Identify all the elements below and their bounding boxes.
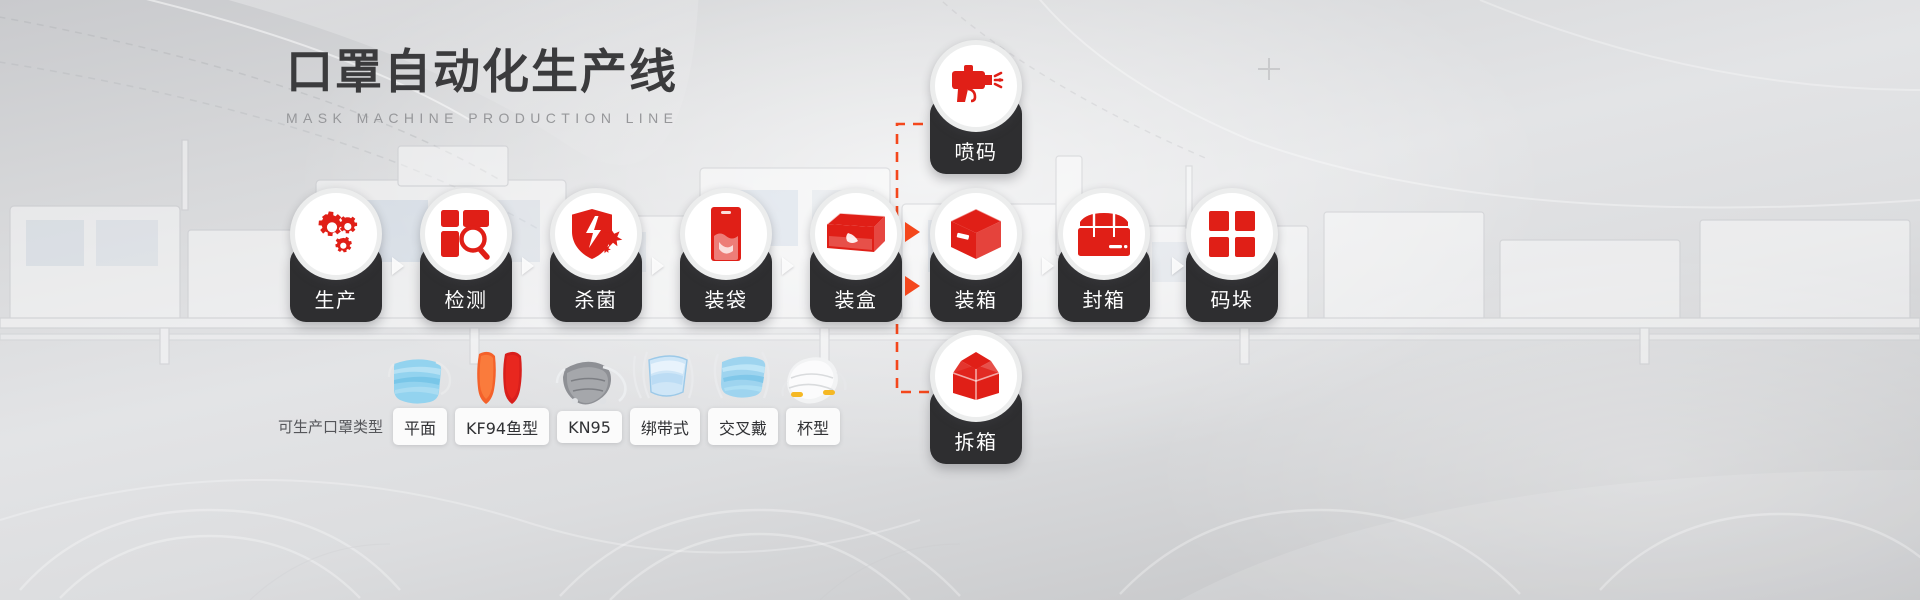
node-label: 检测	[445, 284, 488, 313]
mask-type-tag-kn95[interactable]: KN95	[557, 411, 622, 443]
mask-type-label: 平面	[404, 419, 436, 438]
accent-arrow-top	[905, 222, 920, 242]
flow-node-sealing[interactable]: 封箱	[1058, 188, 1150, 322]
mask-type-label: 绑带式	[641, 419, 689, 438]
mask-type-tag-kf94[interactable]: KF94鱼型	[455, 408, 549, 445]
mask-type-label: KF94鱼型	[466, 419, 538, 438]
mask-type-label: KN95	[568, 418, 611, 437]
mask-type-tag-cup[interactable]: 杯型	[786, 408, 840, 445]
flow-node-production[interactable]: 生产	[290, 188, 382, 322]
flow-arrow-2	[522, 257, 534, 275]
flow-node-boxing[interactable]: 装盒	[810, 188, 902, 322]
mask-types-row: 可生产口罩类型 平面 KF94鱼型	[278, 408, 848, 445]
flow-node-sterilization[interactable]: 杀菌	[550, 188, 642, 322]
spray-gun-icon	[948, 63, 1004, 109]
accent-arrow-bottom	[905, 276, 920, 296]
node-icon-circle	[420, 188, 512, 280]
mask-type-tag-flat[interactable]: 平面	[393, 408, 447, 445]
node-label: 码垛	[1211, 284, 1254, 313]
flow-arrow-6	[1172, 257, 1184, 275]
node-icon-circle	[1186, 188, 1278, 280]
flow-node-cartoning[interactable]: 装箱	[930, 188, 1022, 322]
node-icon-circle	[810, 188, 902, 280]
bag-pack-icon	[709, 206, 743, 262]
tie-on-mask-picture	[625, 346, 705, 408]
node-icon-circle	[1058, 188, 1150, 280]
node-label: 生产	[315, 284, 358, 313]
flow-arrow-5	[1042, 257, 1054, 275]
kf94-fish-mask-picture	[467, 346, 537, 408]
node-icon-circle	[290, 188, 382, 280]
flow-node-coding[interactable]: 喷码	[930, 40, 1022, 174]
banner-stage: 口罩自动化生产线 MASK MACHINE PRODUCTION LINE 生产	[0, 0, 1920, 600]
flow-arrow-1	[392, 257, 404, 275]
flat-blue-mask-picture	[382, 348, 458, 408]
open-tray-box-icon	[826, 212, 886, 256]
node-icon-circle	[930, 188, 1022, 280]
flow-arrow-4	[782, 257, 794, 275]
node-label: 装袋	[705, 284, 748, 313]
sealed-box-icon	[1076, 210, 1132, 258]
kn95-gray-mask-picture	[551, 351, 629, 411]
cross-strap-mask-picture	[704, 346, 782, 408]
mask-type-tag-cross[interactable]: 交叉戴	[708, 408, 778, 445]
flow-node-inspection[interactable]: 检测	[420, 188, 512, 322]
flow-node-bagging[interactable]: 装袋	[680, 188, 772, 322]
flow-arrow-3	[652, 257, 664, 275]
carton-cube-icon	[950, 208, 1002, 260]
node-icon-circle	[550, 188, 642, 280]
node-label: 封箱	[1083, 284, 1126, 313]
magnifier-blocks-icon	[439, 208, 493, 260]
mask-type-label: 交叉戴	[719, 419, 767, 438]
node-label: 杀菌	[575, 284, 618, 313]
cup-mask-picture	[775, 348, 851, 408]
flow-node-palletizing[interactable]: 码垛	[1186, 188, 1278, 322]
flow-node-unboxing[interactable]: 拆箱	[930, 330, 1022, 464]
node-icon-circle	[930, 330, 1022, 422]
node-label: 喷码	[955, 136, 998, 165]
unbox-open-icon	[949, 351, 1003, 401]
node-label: 装箱	[955, 284, 998, 313]
node-label: 拆箱	[955, 426, 998, 455]
node-icon-circle	[680, 188, 772, 280]
shield-lightning-icon	[568, 208, 624, 260]
palletize-grid-icon	[1208, 210, 1256, 258]
mask-types-label: 可生产口罩类型	[278, 416, 383, 437]
gears-icon	[308, 209, 364, 259]
node-label: 装盒	[835, 284, 878, 313]
mask-type-label: 杯型	[797, 419, 829, 438]
mask-type-tag-tieon[interactable]: 绑带式	[630, 408, 700, 445]
node-icon-circle	[930, 40, 1022, 132]
